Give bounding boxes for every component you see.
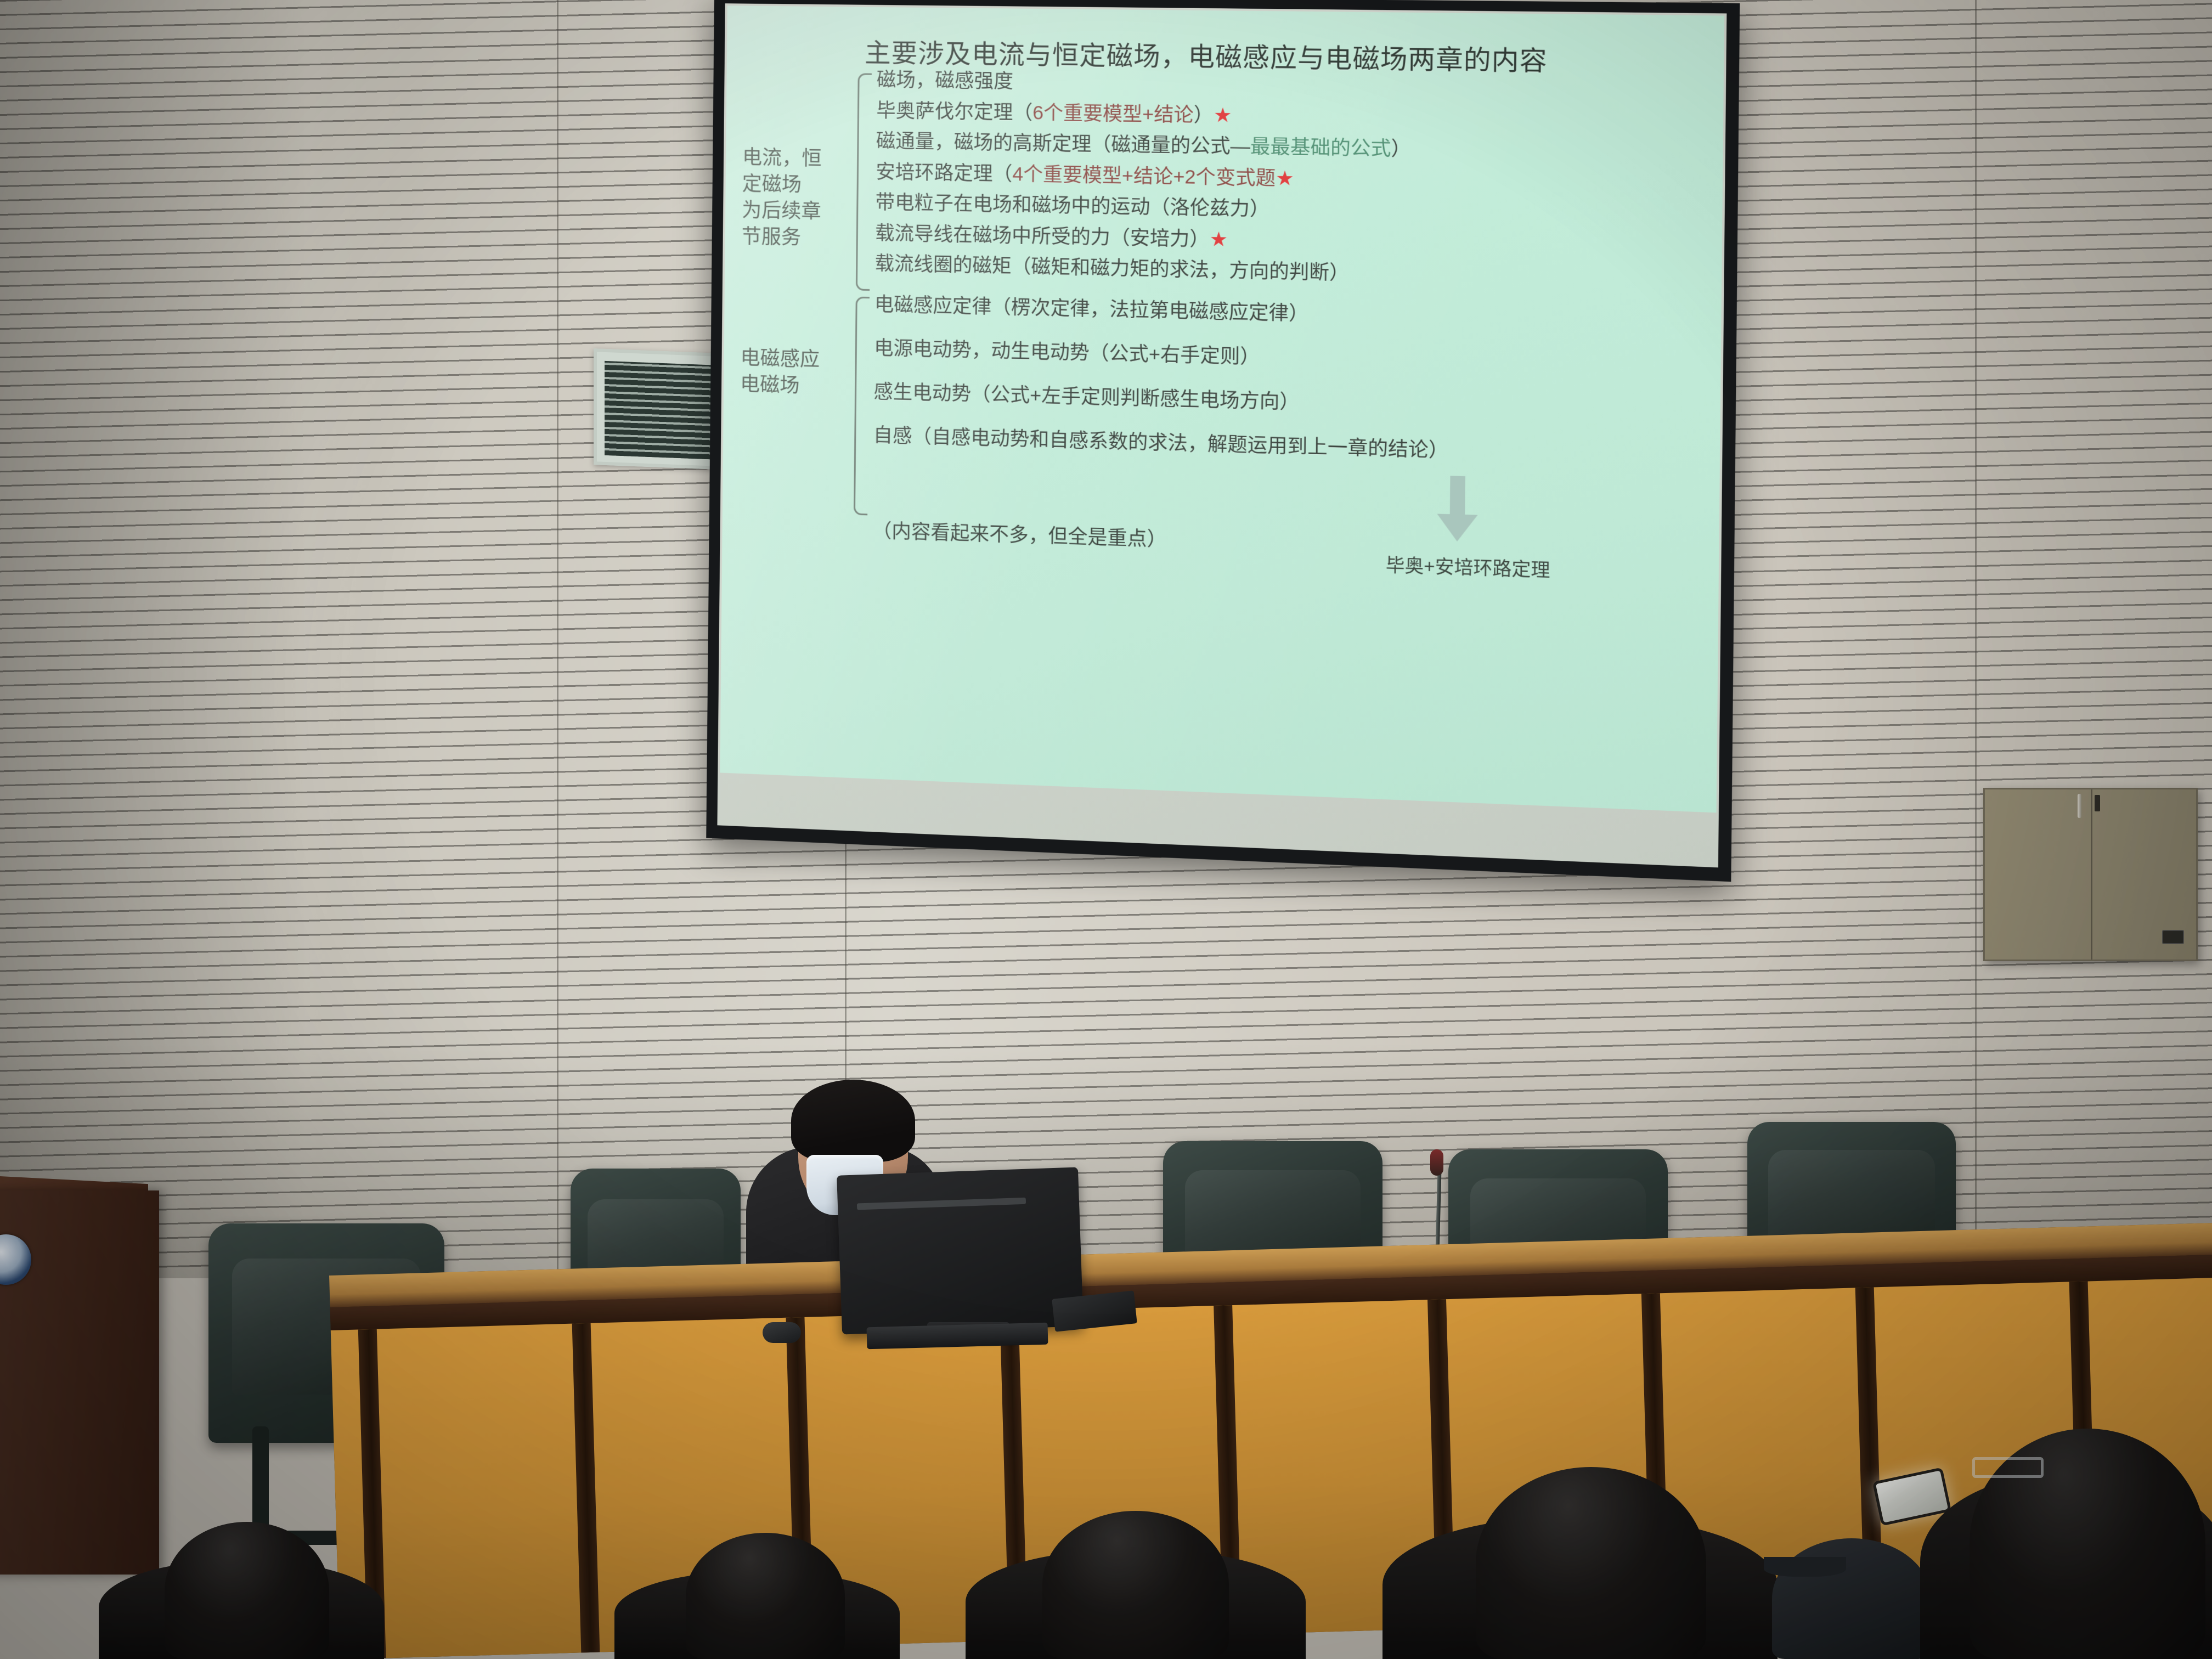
audience-cap (1772, 1538, 1931, 1659)
line-text: ） (1391, 138, 1411, 160)
cabinet-handle-icon[interactable] (2078, 794, 2081, 818)
cabinet-door-seam (2091, 789, 2092, 960)
line-text: 电磁感应定律（楞次定律，法拉第电磁感应定律） (874, 294, 1309, 325)
cabinet-lock-icon[interactable] (2095, 795, 2100, 811)
line-text-highlight: 6个重要模型+结论 (1032, 102, 1194, 126)
line-text-highlight: 4个重要模型+结论+2个变式题 (1012, 163, 1276, 190)
slide-line: 磁通量，磁场的高斯定理（磁通量的公式—最最基础的公式） (876, 131, 1412, 159)
line-text: 自感（自感电动势和自感系数的求法，解题运用到上一章的结论） (873, 425, 1448, 462)
presentation-slide: 主要涉及电流与恒定磁场，电磁感应与电磁场两章的内容 电流，恒 定磁场 为后续章 … (720, 5, 1724, 812)
monitor-bezel (857, 1198, 1026, 1210)
line-text: 载流导线在磁场中所受的力（安培力） (875, 222, 1210, 250)
projection-screen: 主要涉及电流与恒定磁场，电磁感应与电磁场两章的内容 电流，恒 定磁场 为后续章 … (706, 0, 1740, 882)
audience-head (686, 1533, 845, 1659)
star-icon: ★ (1209, 228, 1228, 251)
line-text: 磁通量，磁场的高斯定理（磁通量的公式— (876, 130, 1251, 157)
mouse[interactable] (763, 1322, 801, 1343)
line-text: 载流线圈的磁矩（磁矩和磁力矩的求法，方向的判断） (875, 253, 1350, 284)
slide-line: 毕奥萨伐尔定理（6个重要模型+结论）★ (876, 100, 1412, 128)
microphone-icon (1430, 1149, 1443, 1176)
desktop-monitor[interactable] (837, 1167, 1084, 1334)
vent-grille-icon (605, 361, 725, 460)
arrow-caption: 毕奥+安培环路定理 (1386, 550, 1550, 583)
slide-note: （内容看起来不多，但全是重点） (872, 515, 1167, 552)
slide-line: 电磁感应定律（楞次定律，法拉第电磁感应定律） (874, 295, 1451, 326)
line-text: 毕奥萨伐尔定理（ (876, 100, 1032, 123)
audience-head (165, 1522, 329, 1659)
group-2-label: 电磁感应 电磁场 (740, 345, 851, 400)
star-icon: ★ (1214, 103, 1232, 126)
group-2-brace (854, 297, 870, 516)
slide-line: 载流线圈的磁矩（磁矩和磁力矩的求法，方向的判断） (875, 254, 1410, 284)
cap-brim-icon (1764, 1557, 1846, 1577)
line-text-highlight: 最最基础的公式 (1250, 136, 1391, 160)
line-text: 感生电动势（公式+左手定则判断感生电场方向） (873, 381, 1300, 413)
line-text: 带电粒子在电场和磁场中的运动（洛伦兹力） (876, 191, 1270, 220)
slide-line: 带电粒子在电场和磁场中的运动（洛伦兹力） (876, 193, 1411, 222)
wall-cabinet[interactable] (1983, 788, 2198, 961)
line-text: 安培环路定理（ (876, 161, 1012, 185)
group-1-items: 磁场，磁感强度 毕奥萨伐尔定理（6个重要模型+结论）★ 磁通量，磁场的高斯定理（… (874, 70, 1412, 296)
lecturer-hair (791, 1080, 915, 1162)
lecture-hall-scene: 主要涉及电流与恒定磁场，电磁感应与电磁场两章的内容 电流，恒 定磁场 为后续章 … (0, 0, 2212, 1659)
group-1-brace (856, 73, 872, 291)
audience-head (1476, 1467, 1706, 1659)
audience-head (1042, 1511, 1229, 1659)
group-2-items: 电磁感应定律（楞次定律，法拉第电磁感应定律） 电源电动势，动生电动势（公式+右手… (873, 295, 1450, 472)
group-1-label: 电流，恒 定磁场 为后续章 节服务 (742, 144, 853, 252)
slide-line: 载流导线在磁场中所受的力（安培力）★ (875, 223, 1410, 253)
slide-line: 自感（自感电动势和自感系数的求法，解题运用到上一章的结论） (873, 426, 1449, 461)
line-text: ） (1193, 104, 1214, 126)
line-text: 磁场，磁感强度 (877, 69, 1013, 93)
slide-line: 感生电动势（公式+左手定则判断感生电场方向） (873, 382, 1449, 416)
eyeglasses-icon (1972, 1457, 2044, 1478)
star-icon: ★ (1276, 166, 1294, 189)
slide-line: 安培环路定理（4个重要模型+结论+2个变式题★ (876, 162, 1411, 191)
down-arrow-icon (1437, 476, 1478, 545)
line-text: 电源电动势，动生电动势（公式+右手定则） (874, 337, 1260, 368)
cabinet-label-plate (2162, 930, 2184, 944)
slide-line: 电源电动势，动生电动势（公式+右手定则） (874, 338, 1449, 371)
